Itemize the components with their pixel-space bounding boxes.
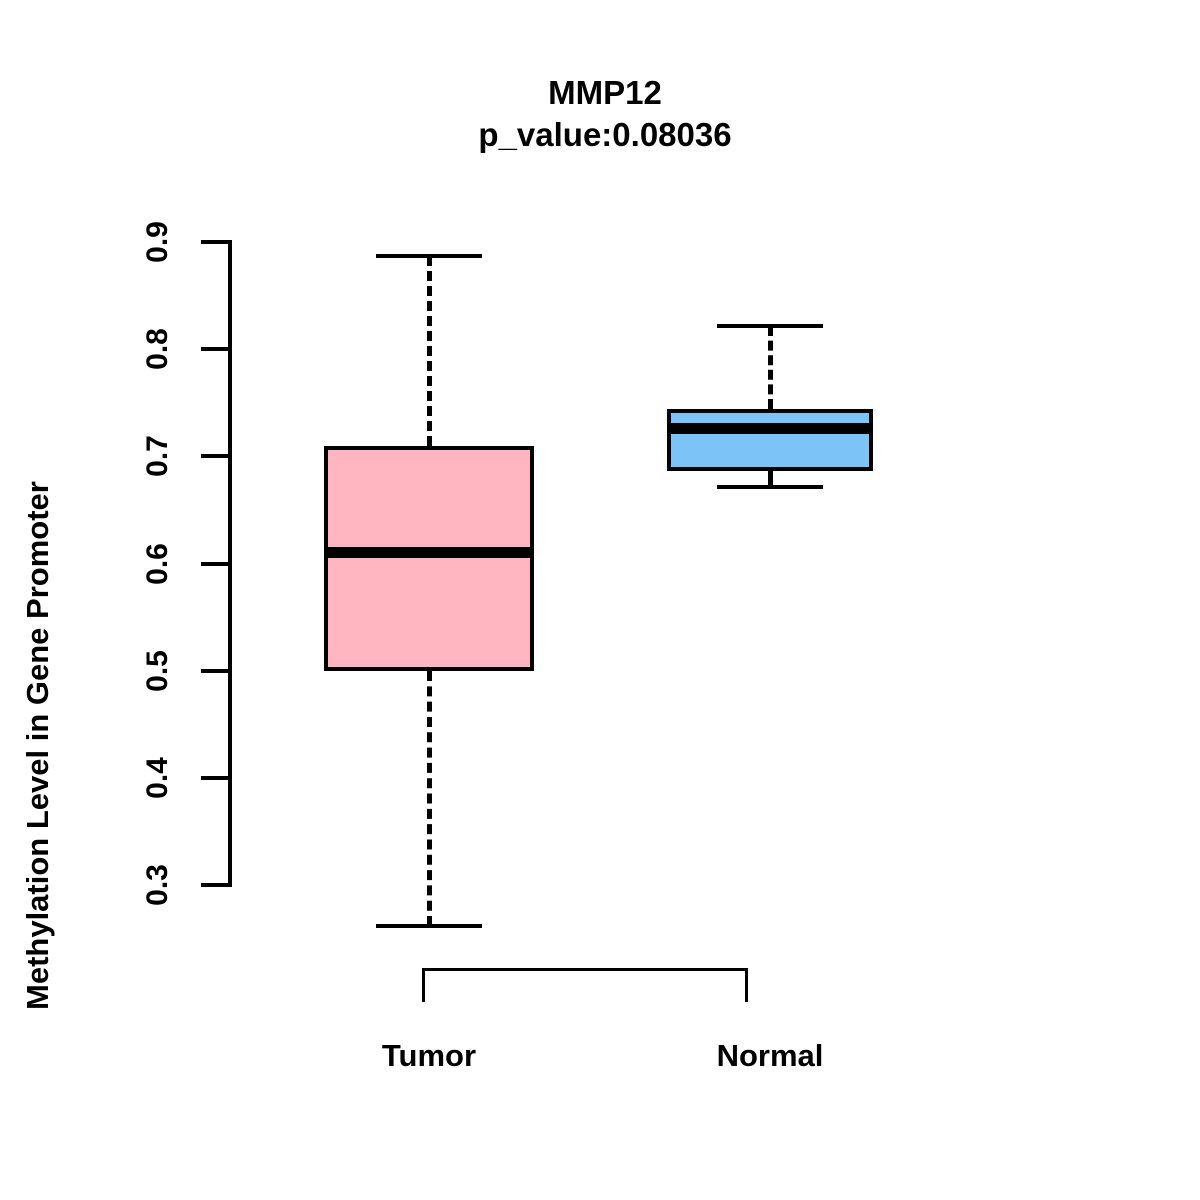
whisker-cap-lower-tumor	[376, 924, 482, 928]
y-axis-tick-label: 0.6	[143, 529, 173, 599]
whisker-cap-upper-normal	[717, 324, 823, 328]
whisker-upper-tumor	[427, 256, 432, 446]
y-axis-tick-label: 0.4	[143, 743, 173, 813]
y-axis-tick-label: 0.3	[143, 850, 173, 920]
median-line-normal	[667, 423, 873, 434]
median-line-tumor	[324, 547, 534, 558]
y-axis-tick	[201, 883, 232, 887]
y-axis-tick	[201, 240, 232, 244]
y-axis-tick-label: 0.8	[143, 314, 173, 384]
whisker-upper-normal	[768, 326, 773, 410]
x-axis-tick-label-tumor: Tumor	[309, 1038, 549, 1074]
boxplot-figure: MMP12 p_value:0.08036 Methylation Level …	[0, 0, 1200, 1200]
x-axis-bracket	[422, 968, 748, 1002]
whisker-lower-tumor	[427, 671, 432, 926]
x-axis-tick-label-normal: Normal	[650, 1038, 890, 1074]
y-axis-tick	[201, 562, 232, 566]
whisker-cap-lower-normal	[717, 485, 823, 489]
y-axis-title: Methylation Level in Gene Promoter	[7, 0, 69, 1010]
y-axis-tick	[201, 347, 232, 351]
page-title: MMP12	[10, 72, 1200, 114]
y-axis-tick-label: 0.5	[143, 636, 173, 706]
y-axis-tick	[201, 454, 232, 458]
y-axis-tick	[201, 776, 232, 780]
y-axis-tick-label: 0.9	[143, 207, 173, 277]
title-block: MMP12 p_value:0.08036	[0, 72, 1200, 156]
y-axis-tick	[201, 669, 232, 673]
box-normal	[667, 409, 873, 471]
p-value-subtitle: p_value:0.08036	[10, 114, 1200, 156]
whisker-cap-upper-tumor	[376, 254, 482, 258]
y-axis-tick-label: 0.7	[143, 421, 173, 491]
